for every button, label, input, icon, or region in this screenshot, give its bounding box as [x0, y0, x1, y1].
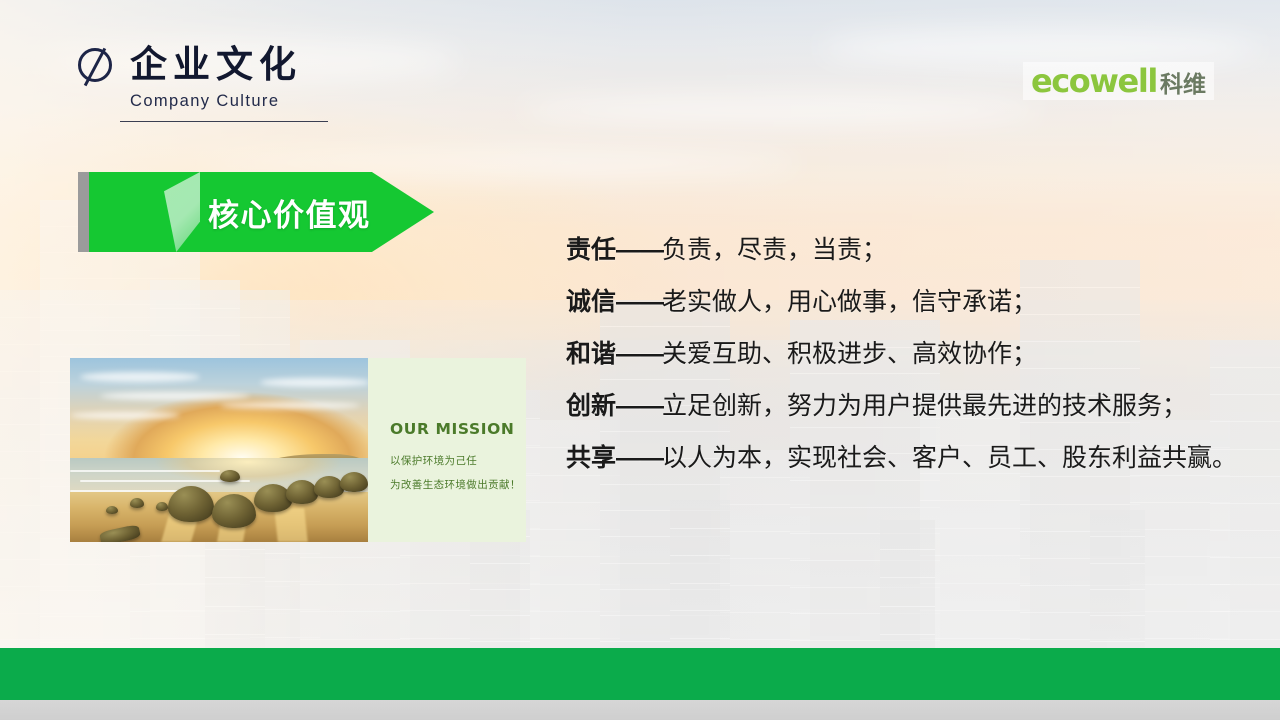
page-header: 企业文化 Company Culture — [78, 46, 328, 122]
value-text: 老实做人，用心做事，信守承诺； — [662, 288, 1037, 316]
logo-wordmark: ecowell — [1031, 65, 1157, 97]
value-dash: —— — [616, 236, 662, 264]
value-key: 责任 — [566, 236, 616, 264]
circle-slash-icon — [78, 48, 112, 82]
photo-cloud — [80, 372, 200, 382]
value-dash: —— — [616, 444, 662, 472]
core-values-banner: 核心价值观 — [78, 172, 434, 252]
value-dash: —— — [616, 340, 662, 368]
photo-boulder — [220, 470, 240, 482]
photo-boulder — [314, 476, 344, 498]
photo-boulder — [340, 472, 368, 492]
value-text: 立足创新，努力为用户提供最先进的技术服务； — [662, 392, 1187, 420]
page-title: 企业文化 — [130, 46, 302, 83]
value-key: 共享 — [566, 444, 616, 472]
sunset-beach-photo — [70, 358, 370, 542]
page-subtitle: Company Culture — [130, 92, 328, 111]
mission-line-1: 以保护环境为己任 — [390, 453, 477, 468]
company-logo: ecowell 科维 — [1023, 62, 1214, 100]
photo-cloud — [220, 402, 360, 409]
value-row: 责任——负责，尽责，当责； — [566, 238, 1266, 263]
value-text: 负责，尽责，当责； — [662, 236, 887, 264]
value-row: 和谐——关爱互助、积极进步、高效协作； — [566, 342, 1266, 367]
mission-title: OUR MISSION — [390, 420, 514, 438]
header-divider — [120, 121, 328, 122]
footer-bottom-strip — [0, 700, 1280, 720]
photo-boulder — [106, 506, 118, 514]
mission-block: OUR MISSION 以保护环境为己任 为改善生态环境做出贡献！ — [70, 358, 526, 542]
value-key: 和谐 — [566, 340, 616, 368]
value-text: 关爱互助、积极进步、高效协作； — [662, 340, 1037, 368]
photo-boulder — [130, 498, 144, 508]
logo-chinese-name: 科维 — [1160, 73, 1206, 96]
value-key: 诚信 — [566, 288, 616, 316]
value-row: 创新——立足创新，努力为用户提供最先进的技术服务； — [566, 394, 1266, 419]
photo-boulder — [156, 502, 168, 511]
photo-boulder — [286, 480, 318, 504]
footer-bar — [0, 648, 1280, 700]
photo-wave — [70, 470, 220, 472]
photo-cloud — [70, 412, 180, 419]
value-dash: —— — [616, 392, 662, 420]
photo-cloud — [260, 378, 370, 387]
value-text: 以人为本，实现社会、客户、员工、股东利益共赢。 — [662, 444, 1237, 472]
value-row: 共享——以人为本，实现社会、客户、员工、股东利益共赢。 — [566, 446, 1266, 471]
photo-boulder — [212, 494, 256, 528]
mission-card: OUR MISSION 以保护环境为己任 为改善生态环境做出贡献！ — [368, 358, 526, 542]
value-row: 诚信——老实做人，用心做事，信守承诺； — [566, 290, 1266, 315]
value-dash: —— — [616, 288, 662, 316]
photo-cloud — [100, 392, 250, 400]
photo-sun-ray — [274, 508, 308, 542]
banner-label: 核心价值观 — [208, 172, 371, 252]
banner-gray-bar — [78, 172, 89, 252]
value-key: 创新 — [566, 392, 616, 420]
mission-line-2: 为改善生态环境做出贡献！ — [390, 477, 521, 492]
photo-boulder — [168, 486, 214, 522]
core-values-list: 责任——负责，尽责，当责；诚信——老实做人，用心做事，信守承诺；和谐——关爱互助… — [566, 238, 1266, 498]
